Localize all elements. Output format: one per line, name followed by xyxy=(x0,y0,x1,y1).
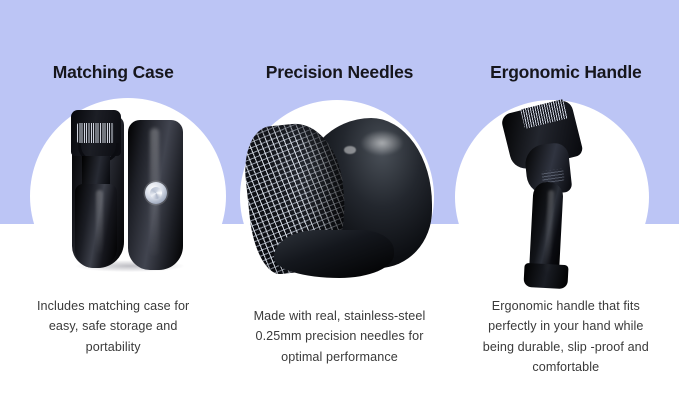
product-image-matching-case xyxy=(70,110,190,275)
roller-highlight xyxy=(96,190,103,256)
panel-heading-3: Ergonomic Handle xyxy=(453,62,679,92)
product-feature-infographic: Matching Case Precision Needles Ergonomi… xyxy=(0,0,679,420)
panel-caption-3-text: Ergonomic handle that fits perfectly in … xyxy=(475,296,657,378)
case-logo-badge-icon xyxy=(145,182,167,204)
panel-heading-3-label: Ergonomic Handle xyxy=(490,62,641,82)
panel-heading-1: Matching Case xyxy=(0,62,226,92)
panel-caption-1: Includes matching case for easy, safe st… xyxy=(0,296,226,357)
needle-roller-drum-icon xyxy=(77,123,114,143)
panel-heading-1-label: Matching Case xyxy=(53,62,174,82)
panel-headings-row: Matching Case Precision Needles Ergonomi… xyxy=(0,62,679,92)
panel-captions-row: Includes matching case for easy, safe st… xyxy=(0,296,679,378)
panel-caption-2: Made with real, stainless-steel 0.25mm p… xyxy=(226,296,452,367)
panel-caption-1-text: Includes matching case for easy, safe st… xyxy=(22,296,204,357)
handle-lower-curve xyxy=(274,230,394,278)
panel-caption-3: Ergonomic handle that fits perfectly in … xyxy=(453,296,679,378)
panel-caption-2-text: Made with real, stainless-steel 0.25mm p… xyxy=(248,296,430,367)
handle-specular-highlight xyxy=(360,130,404,156)
product-image-precision-needles xyxy=(248,118,434,278)
panel-heading-2: Precision Needles xyxy=(226,62,452,92)
handle-specular-dot xyxy=(344,146,356,154)
product-image-ergonomic-handle xyxy=(498,104,608,286)
panel-heading-2-label: Precision Needles xyxy=(266,62,413,82)
